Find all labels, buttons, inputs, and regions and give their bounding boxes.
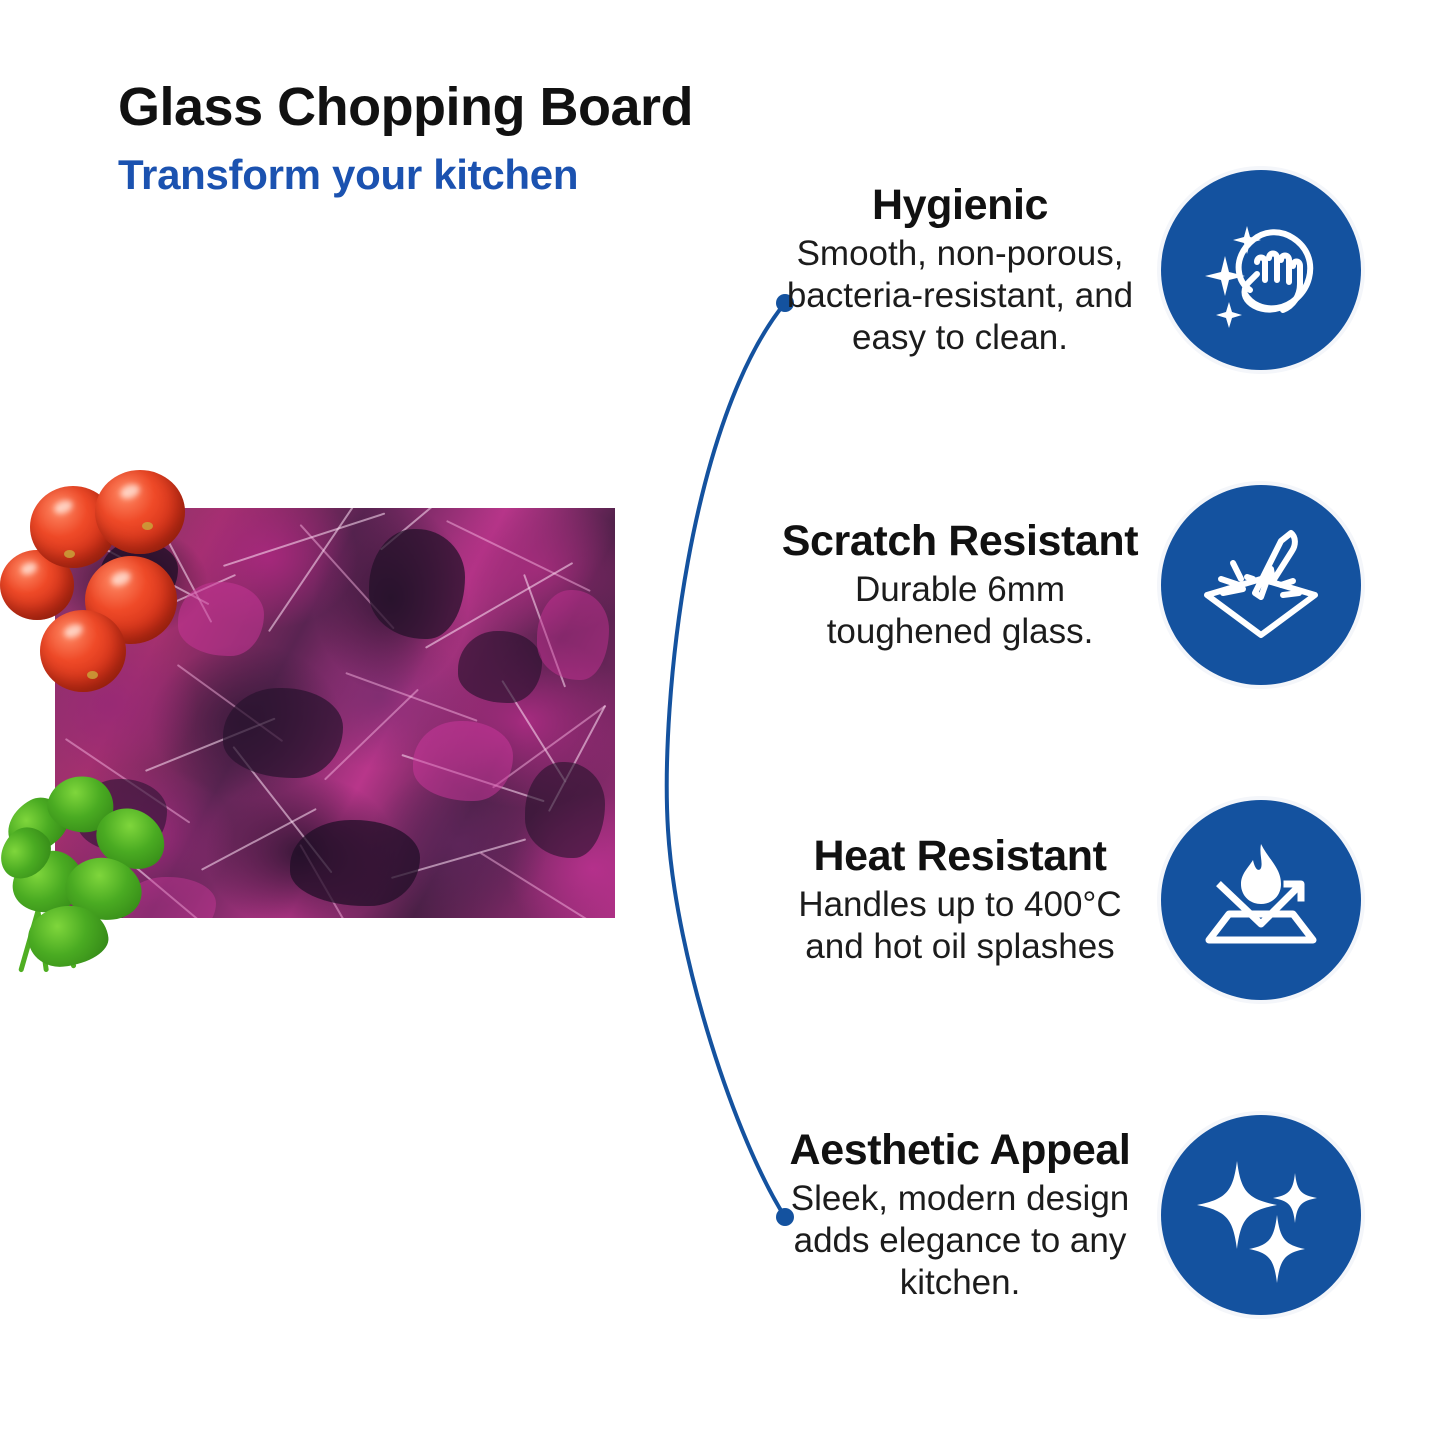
sparkle-large (1197, 1161, 1277, 1249)
sparkle-small (1273, 1173, 1317, 1223)
impact-line (1281, 581, 1293, 585)
feature-icon-hygienic (1159, 168, 1363, 372)
feature-description: Sleek, modern design adds elegance to an… (775, 1178, 1145, 1304)
feature-icon-heat (1159, 798, 1363, 1002)
feature-description: Smooth, non-porous, bacteria-resistant, … (775, 233, 1145, 359)
header-block: Glass Chopping Board Transform your kitc… (118, 78, 878, 200)
feature-title: Hygienic (775, 181, 1145, 229)
impact-line (1223, 589, 1243, 593)
impact-line (1283, 593, 1299, 595)
product-image (55, 508, 615, 918)
knife-impact-surface-icon (1195, 519, 1327, 651)
feature-title: Aesthetic Appeal (775, 1126, 1145, 1174)
icon-badge (1161, 485, 1361, 685)
sparkle-medium (1249, 1215, 1305, 1283)
callout-path (667, 303, 785, 1217)
icon-badge (1161, 170, 1361, 370)
feature-text-hygienic: Hygienic Smooth, non-porous, bacteria-re… (775, 181, 1159, 359)
feature-icon-aesthetic (1159, 1113, 1363, 1317)
cherry-tomato (95, 470, 185, 554)
cherry-tomato (40, 610, 126, 692)
feature-text-heat: Heat Resistant Handles up to 400°C and h… (775, 832, 1159, 968)
icon-badge (1161, 1115, 1361, 1315)
feature-row-heat: Heat Resistant Handles up to 400°C and h… (775, 795, 1375, 1005)
flame-deflect-surface-icon (1195, 834, 1327, 966)
icon-badge (1161, 800, 1361, 1000)
feature-icon-scratch (1159, 483, 1363, 687)
feature-title: Scratch Resistant (775, 517, 1145, 565)
page-title: Glass Chopping Board (118, 78, 878, 137)
three-sparkles-icon (1193, 1147, 1329, 1283)
flame-glyph (1241, 844, 1281, 904)
parsley-garnish (0, 766, 210, 976)
feature-description: Durable 6mm toughened glass. (775, 569, 1145, 653)
feature-text-aesthetic: Aesthetic Appeal Sleek, modern design ad… (775, 1126, 1159, 1304)
impact-line (1233, 563, 1241, 579)
cleaning-hand-sparkle-icon (1195, 204, 1327, 336)
impact-line (1221, 579, 1239, 585)
feature-description: Handles up to 400°C and hot oil splashes (775, 884, 1145, 968)
feature-text-scratch: Scratch Resistant Durable 6mm toughened … (775, 517, 1159, 653)
feature-row-hygienic: Hygienic Smooth, non-porous, bacteria-re… (775, 165, 1375, 375)
feature-title: Heat Resistant (775, 832, 1145, 880)
page-subtitle: Transform your kitchen (118, 151, 878, 199)
impact-line (1247, 577, 1253, 579)
feature-row-aesthetic: Aesthetic Appeal Sleek, modern design ad… (775, 1110, 1375, 1320)
feature-row-scratch: Scratch Resistant Durable 6mm toughened … (775, 480, 1375, 690)
